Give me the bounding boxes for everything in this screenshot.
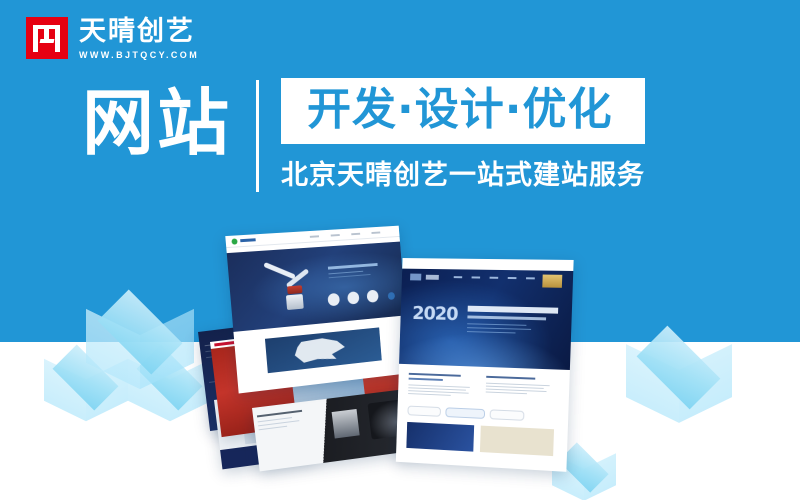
headline-boxed-panel: 开发·设计·优化 [281,78,645,144]
logo-website-url: WWW.BJTQCY.COM [79,49,199,61]
logo-company-name: 天晴创艺 [79,17,199,47]
shot-2020-summit-site: 2020 [396,258,574,472]
shot-summit-hero: 2020 [399,268,573,370]
headline-block: 网站 开发·设计·优化 北京天晴创艺一站式建站服务 [82,78,645,192]
site-logo[interactable]: 天晴创艺 WWW.BJTQCY.COM [26,17,199,61]
headline-keyword: 网站 [82,78,232,192]
medical-robot-arm-graphic [259,263,319,314]
headline-right-column: 开发·设计·优化 北京天晴创艺一站式建站服务 [281,78,645,192]
headline-boxed-text: 开发·设计·优化 [307,84,619,136]
cube-left-large [86,300,194,396]
shot-medical-robot-site [225,226,410,394]
headline-divider [256,80,259,192]
website-screenshot-collage: 2020 [222,222,582,480]
logo-text-group: 天晴创艺 WWW.BJTQCY.COM [79,17,199,61]
shot-medical-hero [227,242,406,332]
tianqing-chuangyi-logo-mark [26,17,68,59]
headline-subtitle: 北京天晴创艺一站式建站服务 [281,160,645,192]
promo-banner: 天晴创艺 WWW.BJTQCY.COM 网站 开发·设计·优化 北京天晴创艺一站… [0,0,800,500]
shot-medical-china-map [265,327,381,372]
cube-right-large [626,336,732,430]
